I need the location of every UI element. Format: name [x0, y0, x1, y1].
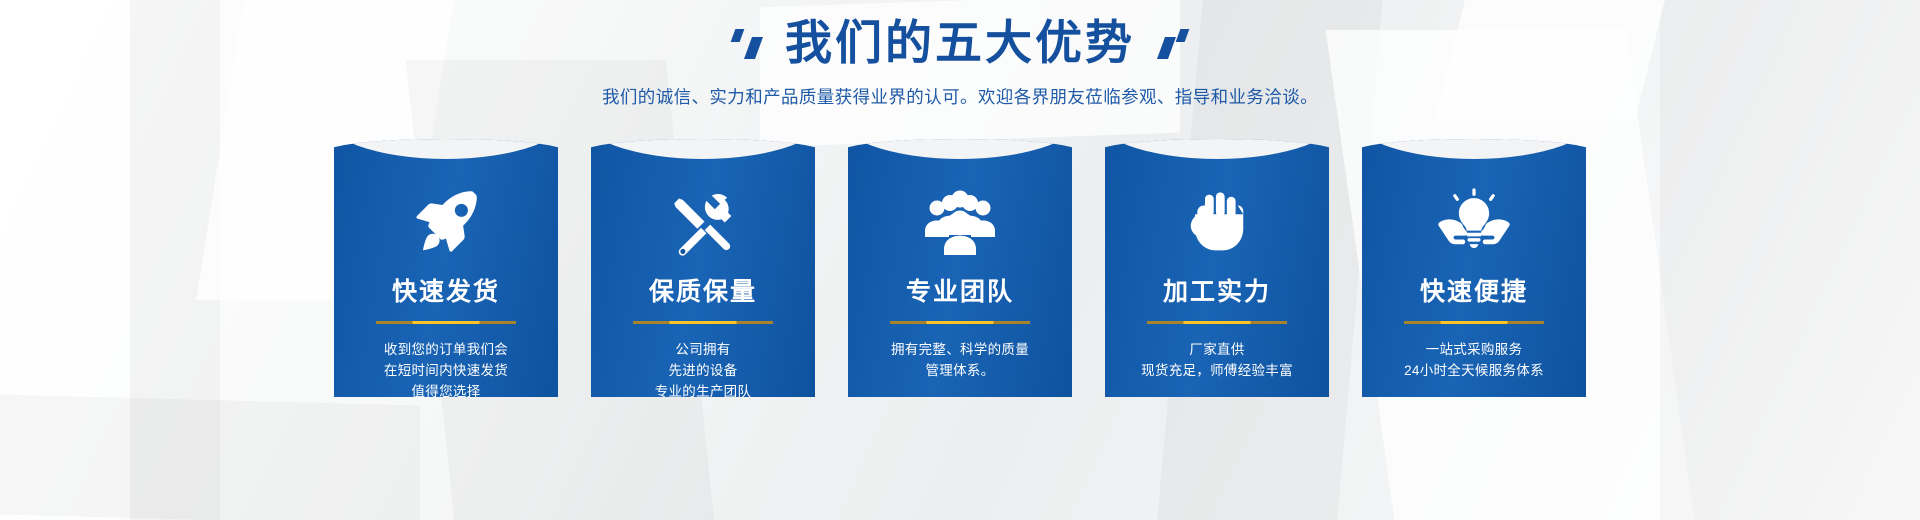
advantage-card-5[interactable]: 快速便捷 一站式采购服务 24小时全天候服务体系	[1362, 139, 1586, 397]
page-subtitle: 我们的诚信、实力和产品质量获得业界的认可。欢迎各界朋友莅临参观、指导和业务洽谈。	[0, 84, 1920, 109]
card-description: 厂家直供 现货充足，师傅经验丰富	[1105, 339, 1329, 381]
gold-divider	[1404, 321, 1544, 324]
section-header: 我们的五大优势 我们的诚信、实力和产品质量获得业界的认可。欢迎各界朋友莅临参观、…	[0, 0, 1920, 109]
card-description: 收到您的订单我们会 在短时间内快速发货 值得您选择	[334, 339, 558, 402]
card-description: 一站式采购服务 24小时全天候服务体系	[1362, 339, 1586, 381]
wrench-screwdriver-icon	[591, 185, 815, 261]
card-title: 专业团队	[848, 279, 1072, 304]
card-title: 快速发货	[334, 279, 558, 304]
team-group-icon	[848, 185, 1072, 261]
advantage-card-2[interactable]: 保质保量 公司拥有 先进的设备 专业的生产团队 专业的技术工人	[591, 139, 815, 397]
double-slash-ornament-right	[1161, 23, 1187, 65]
hands-lightbulb-icon	[1362, 185, 1586, 261]
page-title: 我们的五大优势	[785, 18, 1135, 70]
double-slash-ornament-left	[733, 23, 759, 65]
title-row: 我们的五大优势	[0, 0, 1920, 70]
gold-divider	[890, 321, 1030, 324]
advantage-card-1[interactable]: 快速发货 收到您的订单我们会 在短时间内快速发货 值得您选择	[334, 139, 558, 397]
bg-panel-10	[0, 395, 420, 520]
card-description: 拥有完整、科学的质量 管理体系。	[848, 339, 1072, 381]
gold-divider	[1147, 321, 1287, 324]
gold-divider	[376, 321, 516, 324]
gold-divider	[633, 321, 773, 324]
advantage-card-4[interactable]: 加工实力 厂家直供 现货充足，师傅经验丰富	[1105, 139, 1329, 397]
card-title: 快速便捷	[1362, 279, 1586, 304]
card-title: 加工实力	[1105, 279, 1329, 304]
card-title: 保质保量	[591, 279, 815, 304]
advantage-card-list: 快速发货 收到您的订单我们会 在短时间内快速发货 值得您选择 保质保量	[0, 139, 1920, 397]
rocket-icon	[334, 185, 558, 261]
fist-icon	[1105, 185, 1329, 261]
advantage-card-3[interactable]: 专业团队 拥有完整、科学的质量 管理体系。	[848, 139, 1072, 397]
